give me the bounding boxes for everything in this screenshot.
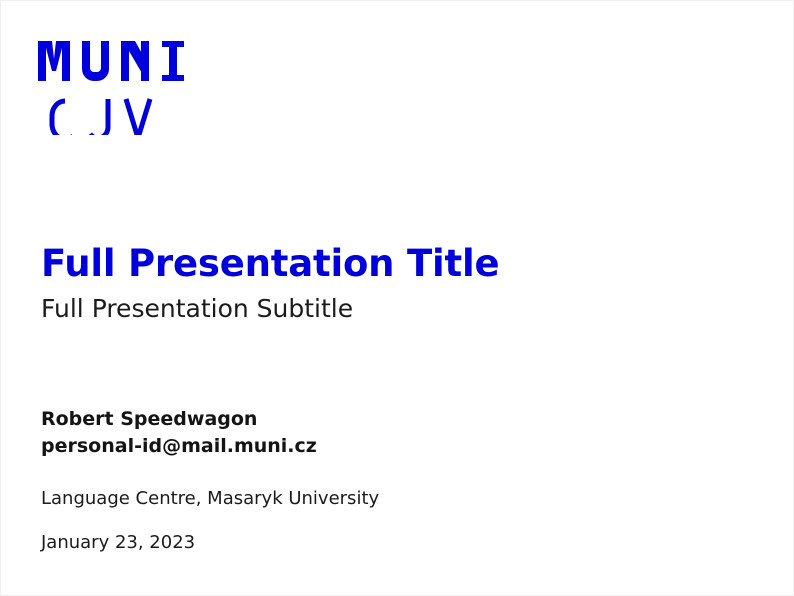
logo-letter-v <box>126 99 150 135</box>
affiliation-text: Language Centre, Masaryk University <box>41 460 741 510</box>
presentation-date: January 23, 2023 <box>41 510 741 554</box>
title-slide: Full Presentation Title Full Presentatio… <box>0 0 794 596</box>
logo-letter-c <box>52 101 73 135</box>
logo-letter-m <box>38 41 70 81</box>
logo-letter-j <box>90 99 108 135</box>
author-email: personal-id@mail.muni.cz <box>41 433 741 460</box>
page-title: Full Presentation Title <box>41 243 741 284</box>
author-name: Robert Speedwagon <box>41 406 741 433</box>
logo-letter-u <box>82 41 109 81</box>
muni-cjv-logo-graphic <box>38 39 188 135</box>
muni-cjv-logo <box>38 39 188 135</box>
logo-letter-i <box>162 41 184 81</box>
presenter-info-block: Robert Speedwagon personal-id@mail.muni.… <box>41 406 741 555</box>
title-block: Full Presentation Title Full Presentatio… <box>41 243 741 324</box>
page-subtitle: Full Presentation Subtitle <box>41 284 741 324</box>
logo-letter-n <box>121 41 149 81</box>
